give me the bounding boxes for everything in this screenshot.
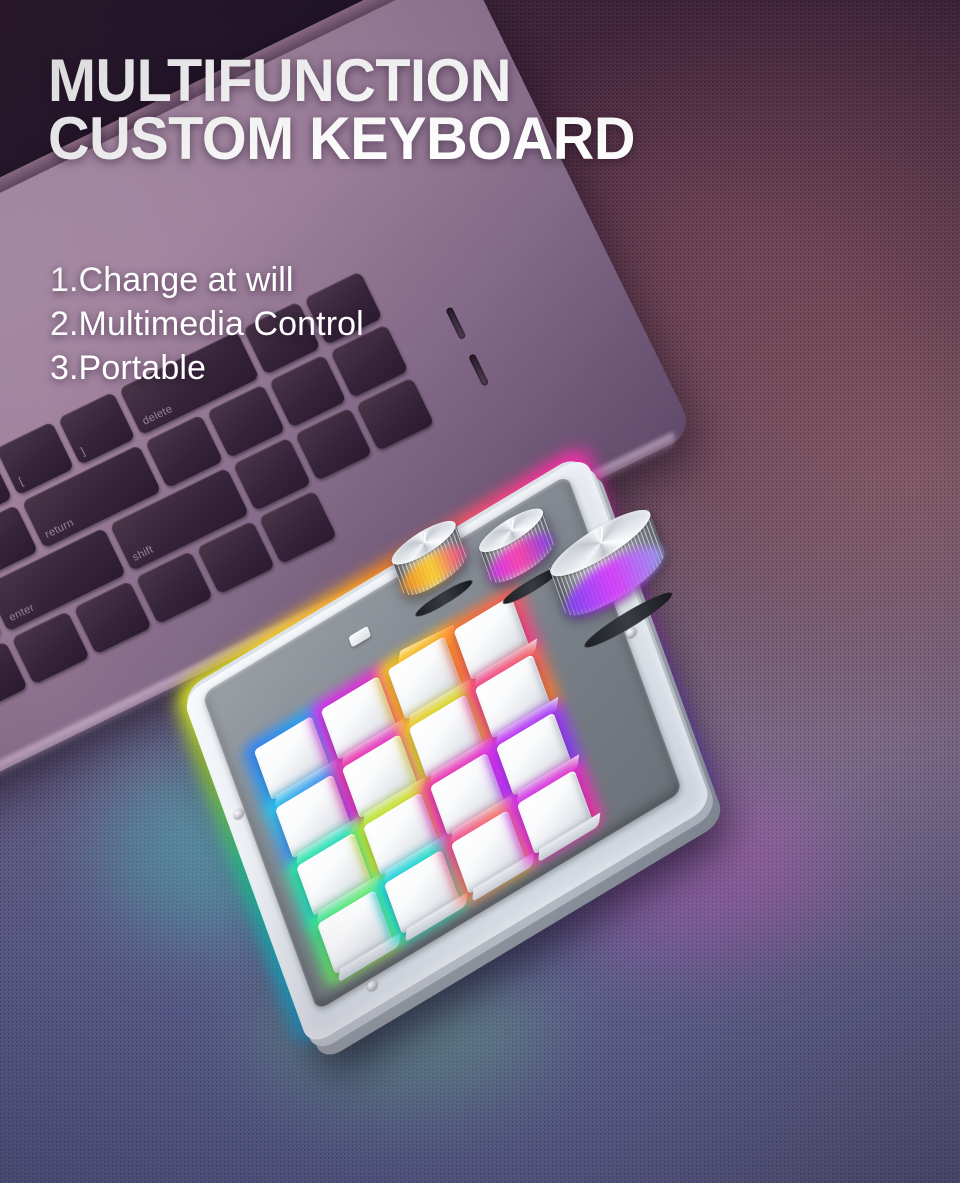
product-marketing-image: 8 O 0 P [ ] delete K L ; ' return , . (0, 0, 960, 1183)
vignette-overlay (0, 0, 960, 1183)
